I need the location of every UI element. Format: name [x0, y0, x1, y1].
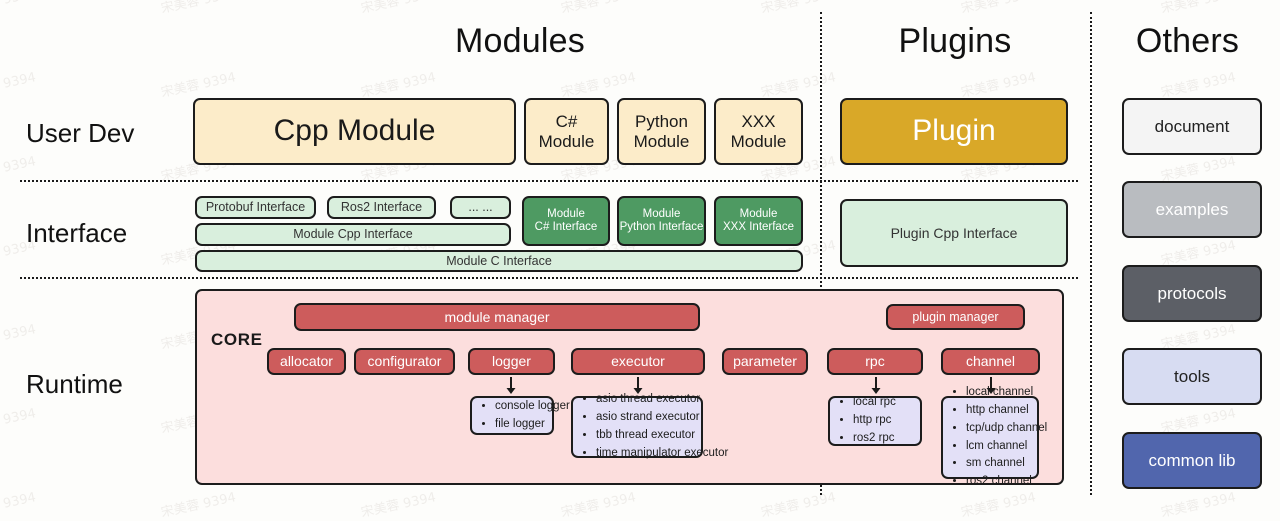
watermark-text: 宋美蓉 9394 — [959, 66, 1038, 100]
watermark-text: 宋美蓉 9394 — [559, 486, 638, 520]
watermark-text: 宋美蓉 9394 — [759, 0, 838, 17]
core-label: CORE — [211, 330, 263, 350]
rpc-details-box: local rpchttp rpcros2 rpc — [828, 396, 922, 446]
column-header-plugins: Plugins — [830, 22, 1080, 61]
row-label-interface: Interface — [26, 218, 127, 249]
csharp-module-label-line1: C# — [556, 112, 578, 132]
module-c-interface-label: Module C Interface — [446, 254, 552, 268]
module-manager-box[interactable]: module manager — [294, 303, 700, 331]
watermark-text: 宋美蓉 9394 — [1159, 234, 1238, 268]
detail-item: time manipulator executor — [596, 445, 693, 463]
detail-item: local rpc — [853, 394, 912, 412]
watermark-text: 宋美蓉 9394 — [759, 66, 838, 100]
detail-item: lcm channel — [966, 438, 1029, 456]
module-cpp-interface-box[interactable]: Module Cpp Interface — [195, 223, 511, 246]
column-header-modules: Modules — [320, 22, 720, 61]
watermark-text: 宋美蓉 9394 — [359, 66, 438, 100]
module-csharp-interface-line2: C# Interface — [535, 221, 598, 234]
watermark-text: 宋美蓉 9394 — [959, 0, 1038, 17]
divider-userdev-interface — [20, 180, 1078, 182]
module-python-interface-box[interactable]: Module Python Interface — [617, 196, 706, 246]
watermark-text: 宋美蓉 9394 — [159, 66, 238, 100]
logger-box[interactable]: logger — [468, 348, 555, 375]
others-examples-label: examples — [1156, 200, 1229, 220]
executor-label: executor — [611, 353, 665, 369]
detail-item: local channel — [966, 384, 1029, 402]
protobuf-interface-box[interactable]: Protobuf Interface — [195, 196, 316, 219]
others-tools-label: tools — [1174, 367, 1210, 387]
plugin-cpp-interface-label: Plugin Cpp Interface — [891, 225, 1018, 241]
more-interface-label: ... ... — [468, 200, 492, 214]
csharp-module-box[interactable]: C# Module — [524, 98, 609, 165]
csharp-module-label-line2: Module — [539, 132, 595, 152]
others-common-lib-label: common lib — [1149, 451, 1236, 471]
watermark-text: 宋美蓉 9394 — [0, 318, 37, 352]
detail-item: console logger — [495, 398, 544, 416]
detail-item: ros2 channel — [966, 473, 1029, 491]
detail-item: tcp/udp channel — [966, 420, 1029, 438]
others-document-label: document — [1155, 117, 1230, 137]
ros2-interface-box[interactable]: Ros2 Interface — [327, 196, 436, 219]
detail-item: asio thread executor — [596, 391, 693, 409]
watermark-text: 宋美蓉 9394 — [0, 486, 37, 520]
configurator-box[interactable]: configurator — [354, 348, 455, 375]
module-python-interface-line2: Python Interface — [620, 221, 704, 234]
executor-box[interactable]: executor — [571, 348, 705, 375]
watermark-text: 宋美蓉 9394 — [359, 486, 438, 520]
module-manager-label: module manager — [444, 309, 549, 325]
channel-box[interactable]: channel — [941, 348, 1040, 375]
parameter-label: parameter — [733, 353, 797, 369]
logger-label: logger — [492, 353, 531, 369]
column-header-others: Others — [1100, 22, 1275, 61]
rpc-box[interactable]: rpc — [827, 348, 923, 375]
detail-item: tbb thread executor — [596, 427, 693, 445]
rpc-arrow-icon — [869, 377, 883, 395]
module-csharp-interface-line1: Module — [547, 208, 585, 221]
watermark-text: 宋美蓉 9394 — [1159, 150, 1238, 184]
watermark-text: 宋美蓉 9394 — [0, 0, 37, 17]
channel-details-box: local channelhttp channeltcp/udp channel… — [941, 396, 1039, 479]
module-csharp-interface-box[interactable]: Module C# Interface — [522, 196, 610, 246]
more-interface-box[interactable]: ... ... — [450, 196, 511, 219]
module-cpp-interface-label: Module Cpp Interface — [293, 227, 413, 241]
detail-item: http rpc — [853, 412, 912, 430]
detail-item: file logger — [495, 416, 544, 434]
ros2-interface-label: Ros2 Interface — [341, 200, 422, 214]
channel-label: channel — [966, 353, 1015, 369]
watermark-text: 宋美蓉 9394 — [559, 0, 638, 17]
watermark-text: 宋美蓉 9394 — [1159, 66, 1238, 100]
others-protocols-label: protocols — [1158, 284, 1227, 304]
watermark-text: 宋美蓉 9394 — [0, 402, 37, 436]
row-label-runtime: Runtime — [26, 369, 123, 400]
watermark-text: 宋美蓉 9394 — [1159, 486, 1238, 520]
others-common-lib-box[interactable]: common lib — [1122, 432, 1262, 489]
divider-interface-runtime — [20, 277, 1078, 279]
python-module-label-line1: Python — [635, 112, 688, 132]
detail-item: ros2 rpc — [853, 430, 912, 448]
xxx-module-label-line2: Module — [731, 132, 787, 152]
allocator-label: allocator — [280, 353, 333, 369]
plugin-manager-box[interactable]: plugin manager — [886, 304, 1025, 330]
others-document-box[interactable]: document — [1122, 98, 1262, 155]
module-xxx-interface-box[interactable]: Module XXX Interface — [714, 196, 803, 246]
executor-details-box: asio thread executorasio strand executor… — [571, 396, 703, 458]
watermark-text: 宋美蓉 9394 — [0, 66, 37, 100]
watermark-text: 宋美蓉 9394 — [759, 486, 838, 520]
watermark-text: 宋美蓉 9394 — [1159, 0, 1238, 17]
logger-details-box: console loggerfile logger — [470, 396, 554, 435]
row-label-user-dev: User Dev — [26, 118, 134, 149]
others-tools-box[interactable]: tools — [1122, 348, 1262, 405]
plugin-label: Plugin — [912, 114, 995, 149]
allocator-box[interactable]: allocator — [267, 348, 346, 375]
module-xxx-interface-line2: XXX Interface — [723, 221, 794, 234]
plugin-cpp-interface-box[interactable]: Plugin Cpp Interface — [840, 199, 1068, 267]
detail-item: http channel — [966, 402, 1029, 420]
protobuf-interface-label: Protobuf Interface — [206, 200, 305, 214]
detail-item: sm channel — [966, 455, 1029, 473]
others-protocols-box[interactable]: protocols — [1122, 265, 1262, 322]
module-c-interface-box[interactable]: Module C Interface — [195, 250, 803, 272]
plugin-manager-label: plugin manager — [912, 310, 998, 324]
configurator-label: configurator — [368, 353, 442, 369]
watermark-text: 宋美蓉 9394 — [559, 66, 638, 100]
python-module-box[interactable]: Python Module — [617, 98, 706, 165]
watermark-text: 宋美蓉 9394 — [359, 0, 438, 17]
xxx-module-label-line1: XXX — [741, 112, 775, 132]
xxx-module-box[interactable]: XXX Module — [714, 98, 803, 165]
executor-details-list: asio thread executorasio strand executor… — [583, 391, 693, 462]
logger-details-list: console loggerfile logger — [482, 398, 544, 434]
rpc-label: rpc — [865, 353, 884, 369]
module-python-interface-line1: Module — [643, 208, 681, 221]
channel-details-list: local channelhttp channeltcp/udp channel… — [953, 384, 1029, 491]
cpp-module-label: Cpp Module — [274, 114, 436, 149]
rpc-details-list: local rpchttp rpcros2 rpc — [840, 394, 912, 447]
others-examples-box[interactable]: examples — [1122, 181, 1262, 238]
plugin-box[interactable]: Plugin — [840, 98, 1068, 165]
watermark-text: 宋美蓉 9394 — [959, 486, 1038, 520]
divider-plugins-others — [1090, 12, 1092, 495]
watermark-text: 宋美蓉 9394 — [159, 486, 238, 520]
diagram-canvas: 宋美蓉 9394宋美蓉 9394宋美蓉 9394宋美蓉 9394宋美蓉 9394… — [0, 0, 1280, 519]
cpp-module-box[interactable]: Cpp Module — [193, 98, 516, 165]
python-module-label-line2: Module — [634, 132, 690, 152]
parameter-box[interactable]: parameter — [722, 348, 808, 375]
logger-arrow-icon — [504, 377, 518, 395]
watermark-text: 宋美蓉 9394 — [159, 0, 238, 17]
detail-item: asio strand executor — [596, 409, 693, 427]
module-xxx-interface-line1: Module — [740, 208, 778, 221]
